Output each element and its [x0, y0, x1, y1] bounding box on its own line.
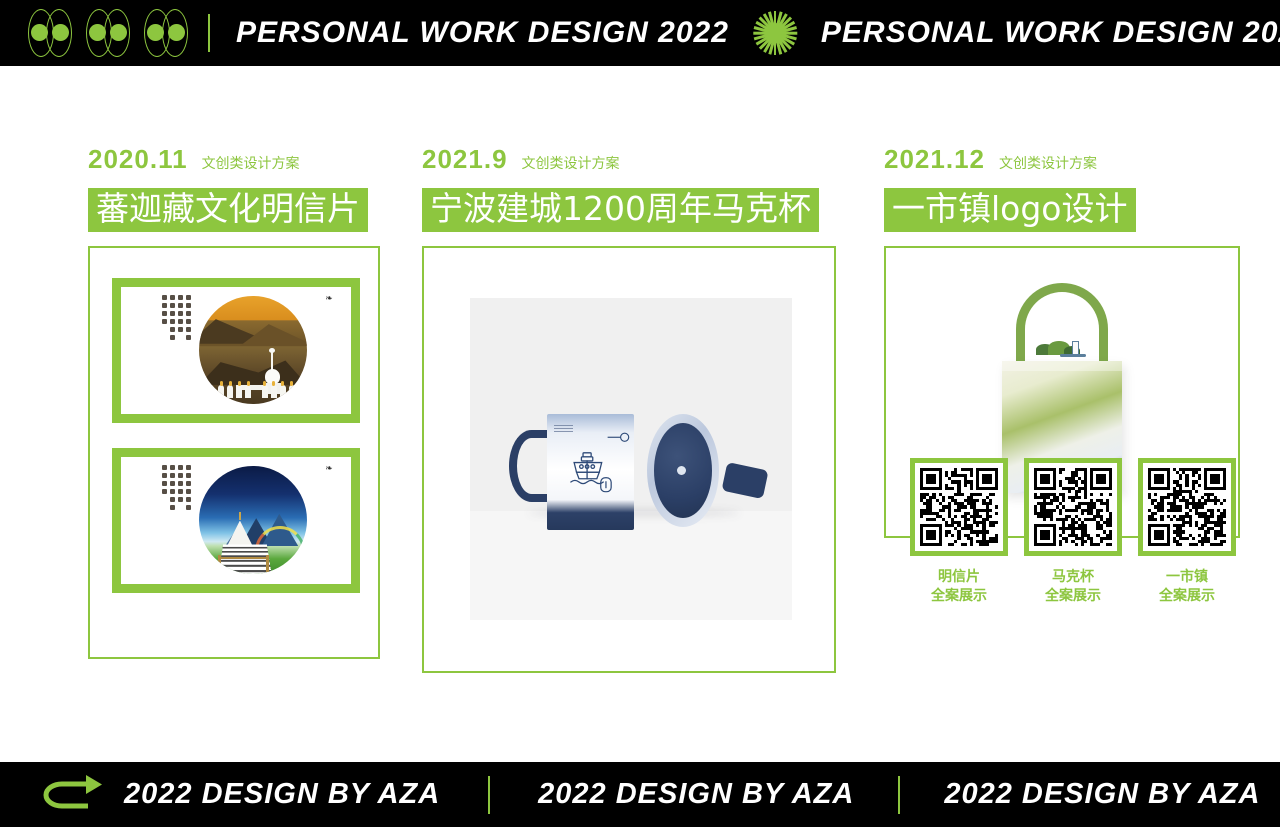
- eye-pair-icon: [28, 9, 72, 57]
- postcard-item[interactable]: ❧: [112, 278, 360, 423]
- qr-caption-line2: 全案展示: [1045, 588, 1101, 604]
- sunburst-icon: [753, 11, 797, 55]
- qr-town-icon[interactable]: [1138, 458, 1236, 556]
- postcard-calligraphy: [133, 295, 191, 367]
- qr-item[interactable]: 马克杯 全案展示: [1024, 458, 1122, 606]
- qr-caption-line2: 全案展示: [1159, 588, 1215, 604]
- header-title-left: PERSONAL WORK DESIGN 2022: [236, 16, 729, 50]
- footer-credit-2: 2022 DESIGN BY AZA: [538, 778, 854, 811]
- postcard-brand-mark: ❧: [316, 464, 342, 491]
- project-date: 2020.11: [88, 146, 188, 172]
- eye-pair-icon: [144, 9, 188, 57]
- project-headline: 2021.9 文创类设计方案: [422, 146, 836, 180]
- project-card-town-logo[interactable]: 2021.12 文创类设计方案 一市镇logo设计: [884, 146, 1240, 538]
- qr-mug-icon[interactable]: [1024, 458, 1122, 556]
- portfolio-stage: 2020.11 文创类设计方案 蕃迦藏文化明信片: [0, 66, 1280, 762]
- postcard-calligraphy: [133, 465, 191, 537]
- project-date: 2021.12: [884, 146, 985, 172]
- footer-bar: 2022 DESIGN BY AZA 2022 DESIGN BY AZA 20…: [0, 762, 1280, 827]
- mug-mockup-image[interactable]: [470, 298, 792, 620]
- footer-divider: [898, 776, 900, 814]
- qr-caption: 马克杯 全案展示: [1024, 568, 1122, 606]
- footer-credit-1: 2022 DESIGN BY AZA: [124, 778, 440, 811]
- mug-upright: [547, 414, 634, 530]
- postcard-illustration-blue: [199, 466, 307, 574]
- project-preview-panel: ❧: [88, 246, 380, 659]
- qr-caption-line1: 马克杯: [1052, 569, 1094, 585]
- header-title-right: PERSONAL WORK DESIGN 2022: [821, 16, 1280, 50]
- project-date: 2021.9: [422, 146, 508, 172]
- eyes-logo: [28, 9, 188, 57]
- project-card-mug[interactable]: 2021.9 文创类设计方案 宁波建城1200周年马克杯: [422, 146, 836, 673]
- project-category: 文创类设计方案: [522, 157, 620, 171]
- project-title: 蕃迦藏文化明信片: [88, 188, 368, 232]
- project-title: 宁波建城1200周年马克杯: [422, 188, 819, 232]
- loop-arrow-right-icon: [32, 772, 110, 818]
- postcard-brand-mark: ❧: [316, 294, 342, 321]
- qr-caption-line2: 全案展示: [931, 588, 987, 604]
- eye-pair-icon: [86, 9, 130, 57]
- project-preview-panel: [422, 246, 836, 673]
- header-bar: PERSONAL WORK DESIGN 2022 PERSONAL WORK …: [0, 0, 1280, 66]
- postcard-item[interactable]: ❧: [112, 448, 360, 593]
- qr-item[interactable]: 明信片 全案展示: [910, 458, 1008, 606]
- qr-caption-line1: 明信片: [938, 569, 980, 585]
- project-title: 一市镇logo设计: [884, 188, 1136, 232]
- mug-small-icon: [606, 428, 630, 447]
- project-category: 文创类设计方案: [999, 157, 1097, 171]
- footer-credit-3: 2022 DESIGN BY AZA: [944, 778, 1260, 811]
- project-card-postcard[interactable]: 2020.11 文创类设计方案 蕃迦藏文化明信片: [88, 146, 380, 659]
- header-divider: [208, 14, 210, 52]
- project-headline: 2020.11 文创类设计方案: [88, 146, 380, 180]
- qr-postcard-icon[interactable]: [910, 458, 1008, 556]
- town-logo-mark: [1036, 339, 1088, 357]
- qr-code-row: 明信片 全案展示 马克杯 全案展示 一市镇 全案展示: [910, 458, 1236, 606]
- qr-caption: 明信片 全案展示: [910, 568, 1008, 606]
- postcard-illustration-golden: [199, 296, 307, 404]
- footer-divider: [488, 776, 490, 814]
- qr-caption-line1: 一市镇: [1166, 569, 1208, 585]
- project-category: 文创类设计方案: [202, 157, 300, 171]
- qr-item[interactable]: 一市镇 全案展示: [1138, 458, 1236, 606]
- qr-caption: 一市镇 全案展示: [1138, 568, 1236, 606]
- project-headline: 2021.12 文创类设计方案: [884, 146, 1240, 180]
- mug-badge-icon: [599, 472, 622, 497]
- mug-lying: [647, 414, 763, 527]
